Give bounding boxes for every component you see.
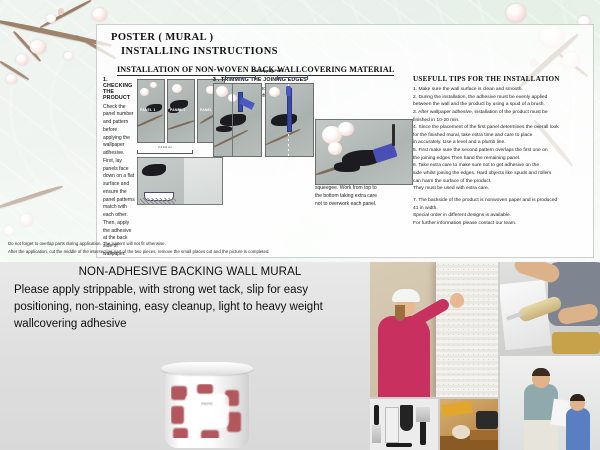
step-3-diagram	[213, 83, 314, 157]
photo-woman-applying-wallpaper	[370, 262, 498, 397]
footnote-line-1: Do not forget to overlap parts during ap…	[8, 240, 528, 248]
photo-workshop-supplies	[440, 399, 498, 450]
tip-item: 6. Take extra care to make sure not to g…	[413, 162, 595, 193]
wallpaper-roll-icon	[452, 425, 470, 439]
instruction-panel: POSTER ( MURAL ) INSTALLING INSTRUCTIONS…	[96, 24, 594, 258]
photo-hands-with-roller	[500, 262, 600, 354]
step-4-mural-image	[315, 119, 413, 185]
tips-column: USEFULL TIPS FOR THE INSTALLATION 1. Mak…	[413, 75, 595, 228]
tip-item: 1. Make sure the wall surface is clean a…	[413, 86, 595, 94]
ruler-scale: 0.4 in/1 cm	[137, 145, 193, 154]
overlap-measure-arrows	[219, 75, 317, 80]
tip-item: 4. Since the placement of the first pane…	[413, 124, 595, 147]
adhesive-bucket: PASTE	[160, 362, 254, 448]
bucket-label-center	[185, 394, 228, 429]
tip-item: 5. First make sure the second pattern ov…	[413, 147, 595, 162]
bucket-body: PASTE	[165, 372, 249, 448]
step-2-illustration	[137, 157, 223, 205]
tip-item: 7. The backside of the product is nonwov…	[413, 197, 595, 228]
description-text: NON-ADHESIVE BACKING WALL MURAL Please a…	[14, 266, 366, 333]
diagram-panel-cut	[265, 83, 314, 157]
step-1-heading: 1. CHECKING THE PRODUCT	[103, 77, 135, 101]
panel-thumbnail-1-label: PANEL 1	[140, 108, 155, 112]
product-listing-image: POSTER ( MURAL ) INSTALLING INSTRUCTIONS…	[0, 0, 600, 450]
panel-thumbnail-2-label: PANEL 2	[170, 108, 185, 112]
diagram-panel-overlap	[213, 83, 262, 157]
tip-item: 2. During the installation, the adhesive…	[413, 94, 595, 109]
bucket-label: PASTE	[171, 384, 243, 438]
description-title: NON-ADHESIVE BACKING WALL MURAL	[14, 266, 366, 278]
description-body: Please apply strippable, with strong wet…	[14, 282, 366, 333]
ruler-label: 0.4 in/1 cm	[137, 145, 193, 149]
photo-man-and-boy	[500, 356, 600, 450]
ruler-bar	[137, 150, 193, 154]
panel-thumbnail-1: PANEL 1	[137, 79, 165, 143]
photo-wallpaper-tools	[370, 399, 438, 450]
panel-thumbnail-2: PANEL 2	[167, 79, 195, 143]
instruction-columns: 1. CHECKING THE PRODUCT Check the panel …	[97, 77, 593, 257]
bucket-label-text: PASTE	[171, 402, 243, 406]
product-subtitle: INSTALLING INSTRUCTIONS	[121, 45, 593, 59]
cap-icon	[392, 289, 420, 302]
photo-collage	[370, 262, 600, 450]
step-1-body: Check the panel number and pattern befor…	[103, 104, 135, 259]
overlapping-parts-label: Overlapping Parts	[219, 69, 317, 73]
footnote-line-2: After the application, cut the middle of…	[8, 248, 528, 256]
tool-handle-icon	[392, 124, 395, 146]
tips-heading: USEFULL TIPS FOR THE INSTALLATION	[413, 75, 595, 83]
paint-pot-icon	[476, 411, 498, 429]
wallpaper-sheet	[436, 262, 498, 397]
step-1: 1. CHECKING THE PRODUCT Check the panel …	[7, 77, 135, 259]
panel-header: POSTER ( MURAL ) INSTALLING INSTRUCTIONS…	[97, 25, 593, 77]
panel-thumbnails: PANEL 1 PANEL 2 PANEL 3	[137, 79, 225, 143]
bucket-lid	[161, 362, 253, 375]
tip-item: 3. After wallpaper adhesive, installatio…	[413, 109, 595, 124]
footnote: Do not forget to overlap parts during ap…	[8, 240, 528, 256]
product-title: POSTER ( MURAL )	[111, 31, 593, 45]
